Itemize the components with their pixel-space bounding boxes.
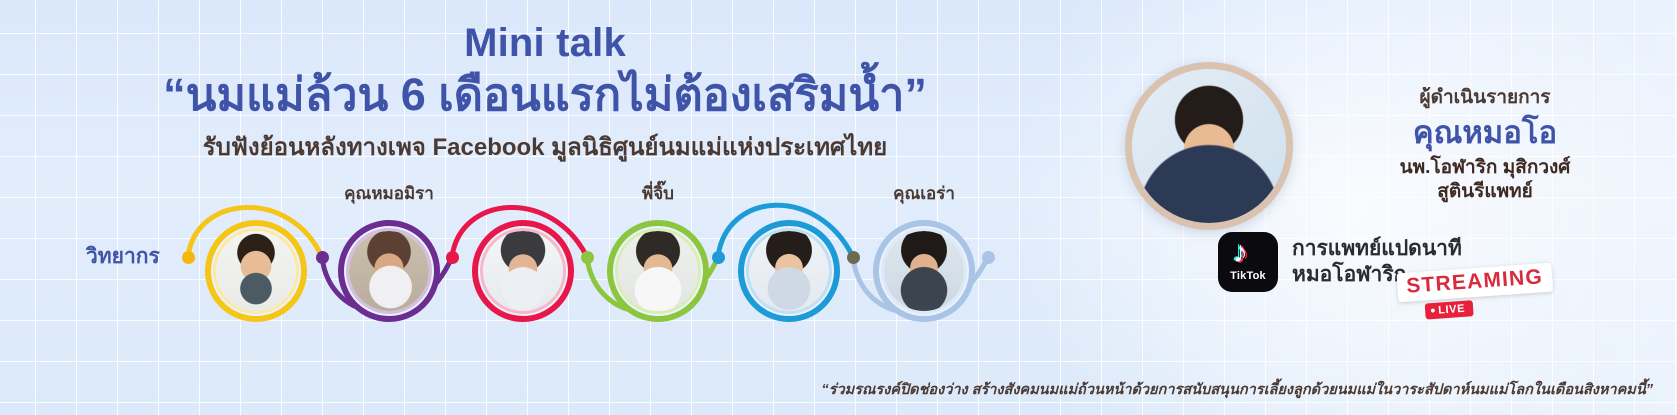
connector-dot-3 [446, 251, 459, 264]
connector-dot-5 [712, 251, 725, 264]
speaker-avatar-ring-6 [873, 220, 975, 322]
speaker-avatar-ring-5 [738, 220, 840, 322]
host-nickname: คุณหมอโอ [1305, 116, 1665, 150]
host-info: ผู้ดำเนินรายการ คุณหมอโอ นพ.โอฬาริก มุสิ… [1305, 82, 1665, 204]
avatar-3 [480, 228, 566, 314]
speaker-avatar-ring-2 [338, 220, 440, 322]
speakers-row: คุณหมอวิน คุณหมอมิรา พี่วาสนา [0, 175, 1060, 350]
streaming-badge: STREAMING ●LIVE [1397, 263, 1555, 322]
tiktok-icon[interactable]: ♪ ♪ ♪ TikTok [1218, 232, 1278, 292]
speaker-avatar-ring-4 [607, 220, 709, 322]
speaker-avatar-ring-1 [205, 220, 307, 322]
tiktok-note-glyph: ♪ ♪ ♪ [1233, 239, 1263, 269]
footer-quote: “ร่วมรณรงค์ปิดช่องว่าง สร้างสังคมนมแม่ถ้… [0, 378, 1669, 401]
tiktok-wordmark: TikTok [1230, 270, 1266, 282]
avatar-1 [213, 228, 299, 314]
live-label: LIVE [1438, 303, 1466, 317]
host-specialty: สูตินรีแพทย์ [1305, 180, 1665, 204]
avatar-4 [615, 228, 701, 314]
tiktok-channel-line-1: การแพทย์แปดนาที [1292, 236, 1462, 262]
connector-dot-7 [982, 251, 995, 264]
speaker-avatar-ring-3 [472, 220, 574, 322]
connector-dot-1 [182, 251, 195, 264]
live-pill: ●LIVE [1425, 300, 1474, 319]
speaker-name-6: คุณเอร่า [844, 180, 1004, 207]
page-subtitle: รับฟังย้อนหลังทางเพจ Facebook มูลนิธิศูน… [0, 134, 1090, 163]
page-title: “นมแม่ล้วน 6 เดือนแรกไม่ต้องเสริมน้ำ” [0, 70, 1090, 120]
header-block: Mini talk “นมแม่ล้วน 6 เดือนแรกไม่ต้องเส… [0, 0, 1090, 162]
connector-dot-2 [316, 251, 329, 264]
speaker-name-4: พี่จิ๊บ [578, 180, 738, 207]
host-avatar [1125, 62, 1293, 230]
connector-dot-6 [847, 251, 860, 264]
host-role-label: ผู้ดำเนินรายการ [1305, 82, 1665, 112]
mini-talk-eyebrow: Mini talk [0, 22, 1090, 64]
host-fullname: นพ.โอฬาริก มุสิกวงศ์ [1305, 156, 1665, 180]
live-bullet-icon: ● [1430, 305, 1437, 315]
avatar-5 [746, 228, 832, 314]
avatar-6 [881, 228, 967, 314]
avatar-2 [346, 228, 432, 314]
mini-talk-banner: Mini talk “นมแม่ล้วน 6 เดือนแรกไม่ต้องเส… [0, 0, 1677, 415]
speaker-name-2: คุณหมอมิรา [309, 180, 469, 207]
connector-dot-4 [581, 251, 594, 264]
